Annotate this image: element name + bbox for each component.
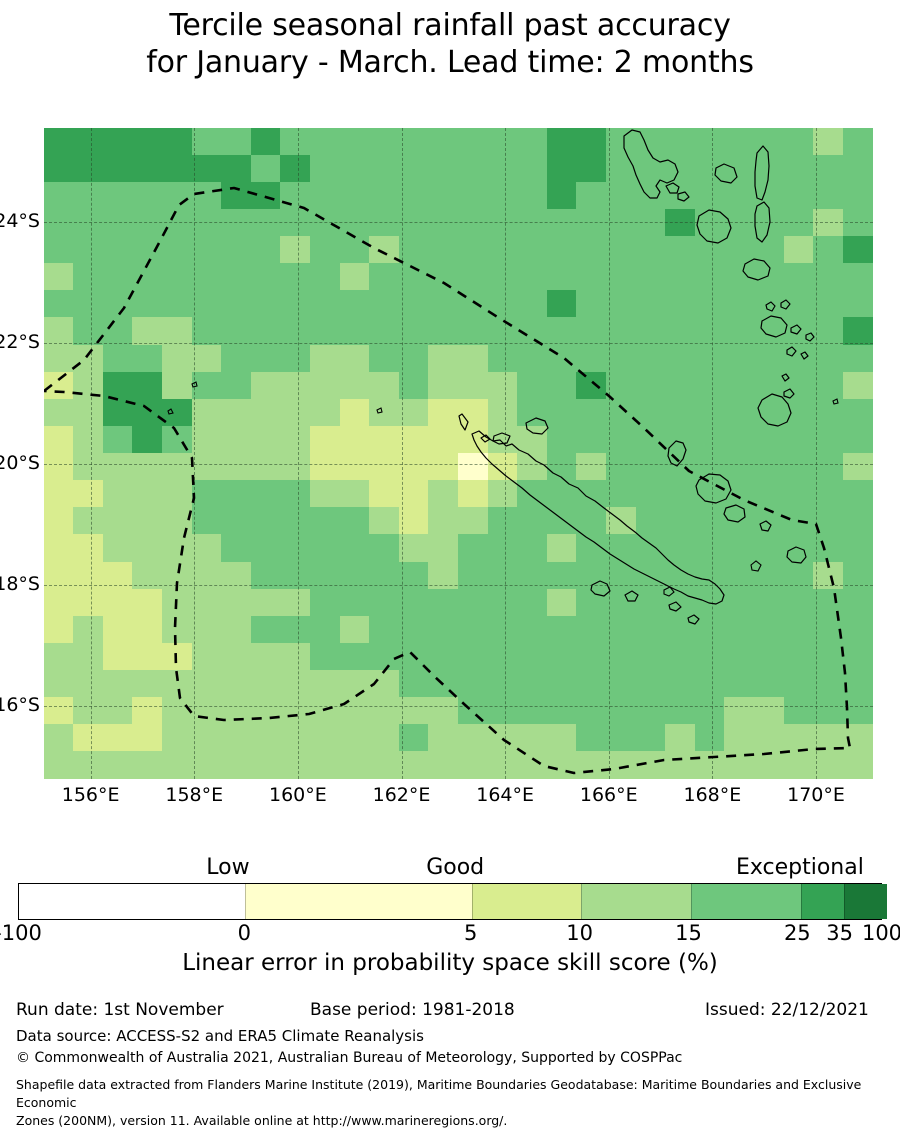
colorbar-tick-label: 0 [238, 921, 251, 945]
colorbar-segment [245, 884, 472, 919]
colorbar-segment [844, 884, 887, 919]
y-tick-label: 18°S [0, 573, 40, 595]
colorbar-gradient[interactable] [18, 883, 882, 920]
y-tick-label: 24°S [0, 210, 40, 232]
footer-meta-row: Run date: 1st November Base period: 1981… [0, 1000, 900, 1026]
colorbar-tick-label: 100 [862, 921, 900, 945]
title-line-1: Tercile seasonal rainfall past accuracy [0, 8, 900, 45]
base-period-text: Base period: 1981-2018 [310, 1000, 515, 1020]
colorbar-axis-label: Linear error in probability space skill … [0, 950, 900, 976]
y-tick-label: 16°S [0, 694, 40, 716]
colorbar-segment [691, 884, 801, 919]
x-tick-label: 166°E [554, 784, 664, 806]
colorbar-category-label: Exceptional [736, 855, 864, 880]
colorbar-tick-label: -100 [0, 921, 42, 945]
map-plot-area[interactable] [44, 128, 873, 779]
colorbar-category-labels: LowGoodExceptional [0, 855, 900, 883]
map-vector-overlay [44, 128, 873, 779]
small-islets [168, 382, 838, 596]
x-tick-label: 170°E [761, 784, 871, 806]
colorbar-category-label: Low [206, 855, 249, 880]
shapefile-credit-line-2: Zones (200NM), version 11. Available onl… [16, 1112, 896, 1129]
colorbar-tick-label: 5 [464, 921, 477, 945]
x-tick-label: 168°E [657, 784, 767, 806]
vanuatu-coastline [624, 130, 814, 426]
colorbar-tick-label: 25 [784, 921, 811, 945]
page-title: Tercile seasonal rainfall past accuracy … [0, 8, 900, 81]
run-date-text: Run date: 1st November [16, 1000, 224, 1020]
eez-boundary-line [44, 188, 850, 773]
colorbar-tick-label: 15 [675, 921, 702, 945]
colorbar-segment [801, 884, 844, 919]
colorbar-segment [581, 884, 691, 919]
data-source-text: Data source: ACCESS-S2 and ERA5 Climate … [16, 1026, 900, 1048]
x-tick-label: 156°E [36, 784, 146, 806]
x-tick-label: 164°E [450, 784, 560, 806]
x-tick-label: 158°E [139, 784, 249, 806]
colorbar-category-label: Good [426, 855, 484, 880]
copyright-text: © Commonwealth of Australia 2021, Austra… [16, 1048, 900, 1068]
x-tick-label: 160°E [243, 784, 353, 806]
x-tick-label: 162°E [347, 784, 457, 806]
issued-text: Issued: 22/12/2021 [705, 1000, 869, 1020]
y-tick-label: 22°S [0, 331, 40, 353]
colorbar-segment [472, 884, 582, 919]
loyalty-islands-coastline [668, 441, 806, 563]
colorbar-legend: LowGoodExceptional -1000510152535100 Lin… [0, 855, 900, 883]
shapefile-credit-line-1: Shapefile data extracted from Flanders M… [16, 1076, 896, 1112]
colorbar-tick-labels: -1000510152535100 [0, 921, 900, 951]
title-line-2: for January - March. Lead time: 2 months [0, 45, 900, 82]
colorbar-tick-label: 35 [826, 921, 853, 945]
colorbar-segment [19, 884, 245, 919]
colorbar-tick-label: 10 [566, 921, 593, 945]
y-tick-label: 20°S [0, 452, 40, 474]
